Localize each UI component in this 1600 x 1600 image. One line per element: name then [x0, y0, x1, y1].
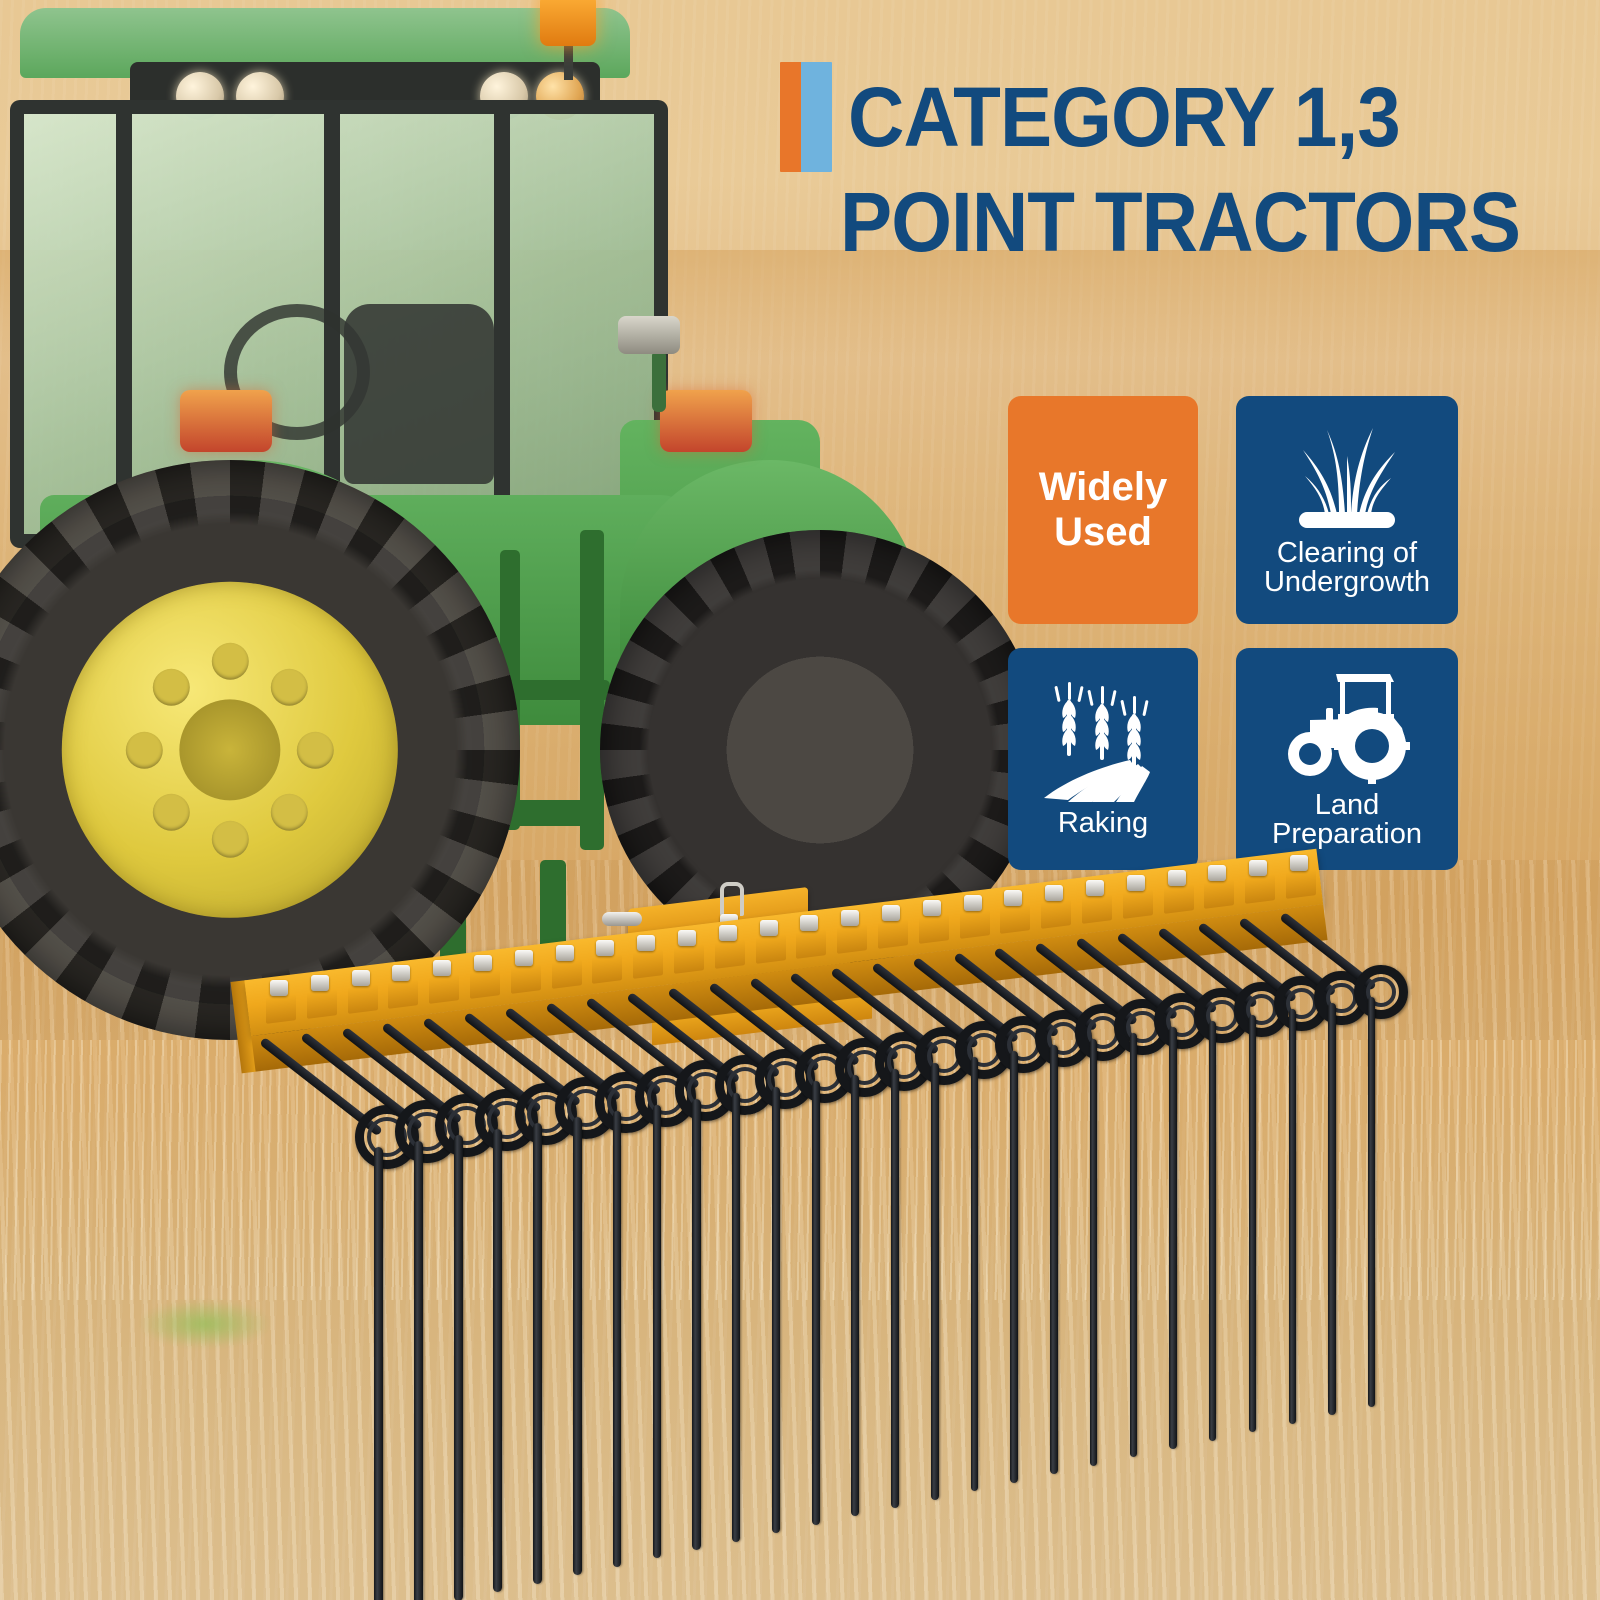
landscape-rake-product — [250, 880, 1330, 1600]
mirror-arm — [652, 350, 666, 412]
rake-tine — [1010, 1051, 1018, 1483]
rake-tine — [692, 1099, 700, 1550]
rake-tine — [931, 1063, 939, 1499]
tine-clamp — [1082, 894, 1112, 924]
tine-clamp — [960, 909, 990, 939]
tine-clamp — [715, 939, 745, 969]
beam-bolt — [352, 970, 370, 986]
beam-bolt — [760, 920, 778, 936]
tine-clamp — [633, 949, 663, 979]
accent-bar-orange — [780, 62, 801, 172]
badge-label-line1: Widely — [1039, 465, 1168, 510]
beam-bolt — [841, 910, 859, 926]
rake-tine — [1368, 997, 1375, 1407]
rake-tine — [493, 1129, 502, 1592]
rake-tine — [374, 1147, 383, 1600]
badge-land-preparation[interactable]: Land Preparation — [1236, 648, 1458, 870]
headline-line-1: CATEGORY 1,3 — [848, 76, 1400, 158]
badge-caption-line1: Clearing of — [1277, 538, 1417, 569]
rake-tine — [613, 1111, 622, 1567]
rake-tine — [573, 1117, 582, 1575]
beam-bolt — [882, 905, 900, 921]
hitch-pin — [602, 912, 642, 926]
rake-tine — [971, 1057, 979, 1491]
tine-clamp — [266, 994, 296, 1024]
beam-bolt — [678, 930, 696, 946]
beam-bolt — [1127, 875, 1145, 891]
wheel-hub — [180, 700, 281, 801]
tine-clamp — [307, 989, 337, 1019]
beam-bolt — [923, 900, 941, 916]
tine-clamp — [1000, 904, 1030, 934]
lynch-clip-icon — [720, 882, 744, 916]
rake-tine — [533, 1123, 542, 1583]
tine-clamp — [919, 914, 949, 944]
tine-clamp — [837, 924, 867, 954]
beam-bolt — [1168, 870, 1186, 886]
tine-clamp — [1245, 874, 1275, 904]
rake-tine — [1209, 1021, 1216, 1441]
badge-caption-line1: Land — [1315, 790, 1380, 821]
beam-bolt — [1290, 855, 1308, 871]
rake-tine — [1289, 1009, 1296, 1424]
beam-bolt — [474, 955, 492, 971]
beam-bolt — [800, 915, 818, 931]
tine-coil-spring — [1354, 965, 1408, 1019]
side-mirror — [618, 316, 680, 354]
feature-badge-grid: Widely Used Cl — [1008, 396, 1458, 870]
rake-tine — [891, 1069, 899, 1508]
tine-clamp — [878, 919, 908, 949]
beam-bolt — [637, 935, 655, 951]
tine-clamp — [348, 984, 378, 1014]
badge-raking[interactable]: Raking — [1008, 648, 1198, 870]
rake-tine — [414, 1141, 423, 1600]
operator-seat — [344, 304, 494, 484]
tine-clamp — [388, 979, 418, 1009]
beam-bolt — [1249, 860, 1267, 876]
amber-beacon-icon — [540, 0, 596, 46]
tail-light-icon — [660, 390, 752, 452]
product-banner: CATEGORY 1,3 POINT TRACTORS Widely Used — [0, 0, 1600, 1600]
rake-tine — [732, 1093, 740, 1541]
tine-clamp — [592, 954, 622, 984]
beam-bolt — [1208, 865, 1226, 881]
badge-caption-line2: Undergrowth — [1264, 567, 1430, 598]
wheat-field-icon — [1034, 678, 1172, 804]
beam-bolt — [1086, 880, 1104, 896]
badge-caption-line2: Preparation — [1272, 819, 1422, 850]
tine-clamp — [552, 959, 582, 989]
tine-clamp — [756, 934, 786, 964]
rake-tine — [812, 1081, 820, 1525]
cab-pillar — [116, 114, 132, 534]
accent-bar-blue — [801, 62, 832, 172]
accent-bar — [780, 62, 832, 172]
rake-tine — [454, 1135, 463, 1600]
wheel-rim — [62, 582, 398, 918]
badge-clearing-of-undergrowth[interactable]: Clearing of Undergrowth — [1236, 396, 1458, 624]
badge-widely-used[interactable]: Widely Used — [1008, 396, 1198, 624]
headline-block: CATEGORY 1,3 POINT TRACTORS — [780, 62, 1520, 264]
beam-bolt — [311, 975, 329, 991]
grass-tuft-icon — [1281, 422, 1413, 534]
rake-tine — [772, 1087, 780, 1533]
rake-tine — [1169, 1027, 1176, 1449]
tine-clamp — [429, 974, 459, 1004]
rake-tine — [653, 1105, 661, 1558]
badge-caption-line1: Raking — [1058, 808, 1148, 839]
tine-clamp — [511, 964, 541, 994]
beam-bolt — [1045, 885, 1063, 901]
beam-bolt — [392, 965, 410, 981]
tail-light-icon — [180, 390, 272, 452]
beam-bolt — [964, 895, 982, 911]
cab-pillar — [494, 114, 510, 534]
rake-tine — [1130, 1033, 1137, 1457]
rake-tine — [1090, 1039, 1098, 1466]
tine-clamp — [1123, 889, 1153, 919]
beam-bolt — [1004, 890, 1022, 906]
tine-clamp — [1286, 869, 1316, 899]
rake-tine — [851, 1075, 859, 1516]
beam-bolt — [270, 980, 288, 996]
beam-bolt — [596, 940, 614, 956]
tine-clamp — [1164, 884, 1194, 914]
beam-bolt — [515, 950, 533, 966]
beam-bolt — [719, 925, 737, 941]
tine-clamp — [1204, 879, 1234, 909]
headline-line-2: POINT TRACTORS — [832, 180, 1520, 264]
rake-tine — [1328, 1003, 1335, 1415]
beam-bolt — [556, 945, 574, 961]
tine-clamp — [796, 929, 826, 959]
tine-clamp — [674, 944, 704, 974]
tine-clamp — [1041, 899, 1071, 929]
rake-tine — [1249, 1015, 1256, 1432]
tractor-icon — [1274, 668, 1420, 786]
beam-bolt — [433, 960, 451, 976]
badge-label-line2: Used — [1054, 510, 1152, 555]
rake-tine — [1050, 1045, 1058, 1474]
tine-clamp — [470, 969, 500, 999]
